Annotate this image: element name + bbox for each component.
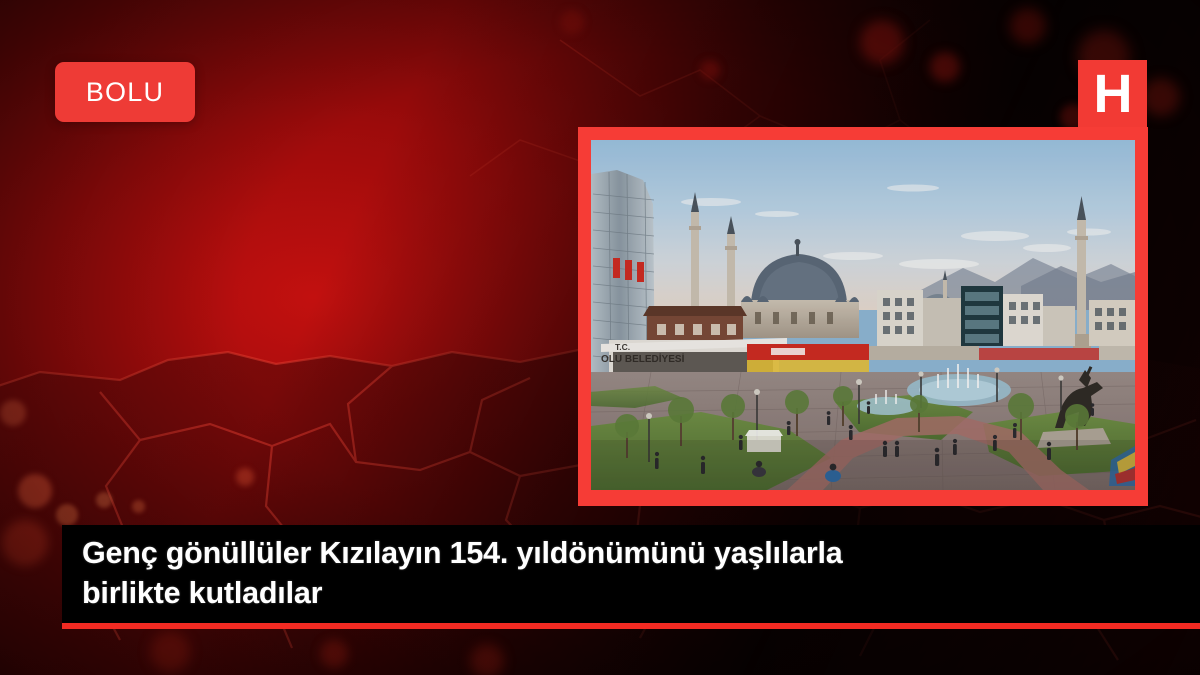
headline-accent-rule — [62, 623, 1200, 629]
headline-bar: Genç gönüllüler Kızılayın 154. yıldönümü… — [62, 525, 1200, 623]
brand-logo-letter: H — [1094, 67, 1132, 121]
news-card-canvas: BOLU H — [0, 0, 1200, 675]
city-badge-label: BOLU — [86, 79, 164, 106]
headline-line-1: Genç gönüllüler Kızılayın 154. yıldönümü… — [82, 536, 843, 570]
news-photo-frame[interactable]: T.C. OLU BELEDİYESİ — [578, 127, 1148, 506]
haberler-h-logo-icon[interactable]: H — [1078, 60, 1147, 129]
city-badge[interactable]: BOLU — [55, 62, 195, 122]
news-photo: T.C. OLU BELEDİYESİ — [591, 140, 1135, 490]
headline-line-2: birlikte kutladılar — [82, 576, 322, 610]
headline-text: Genç gönüllüler Kızılayın 154. yıldönümü… — [82, 534, 843, 613]
